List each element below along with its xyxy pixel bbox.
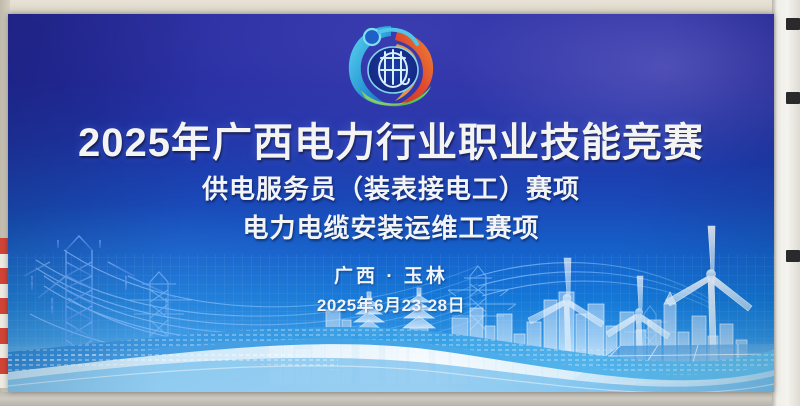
floor bbox=[0, 392, 800, 406]
banner-artwork bbox=[8, 14, 774, 392]
wall-bracket bbox=[786, 18, 800, 30]
wall-bracket bbox=[786, 250, 800, 262]
wall-right bbox=[772, 0, 800, 406]
wall-bracket bbox=[786, 92, 800, 104]
screenshot-root: 2025年广西电力行业职业技能竞赛 供电服务员（装表接电工）赛项 电力电缆安装运… bbox=[0, 0, 800, 406]
event-backdrop-banner: 2025年广西电力行业职业技能竞赛 供电服务员（装表接电工）赛项 电力电缆安装运… bbox=[8, 14, 774, 392]
